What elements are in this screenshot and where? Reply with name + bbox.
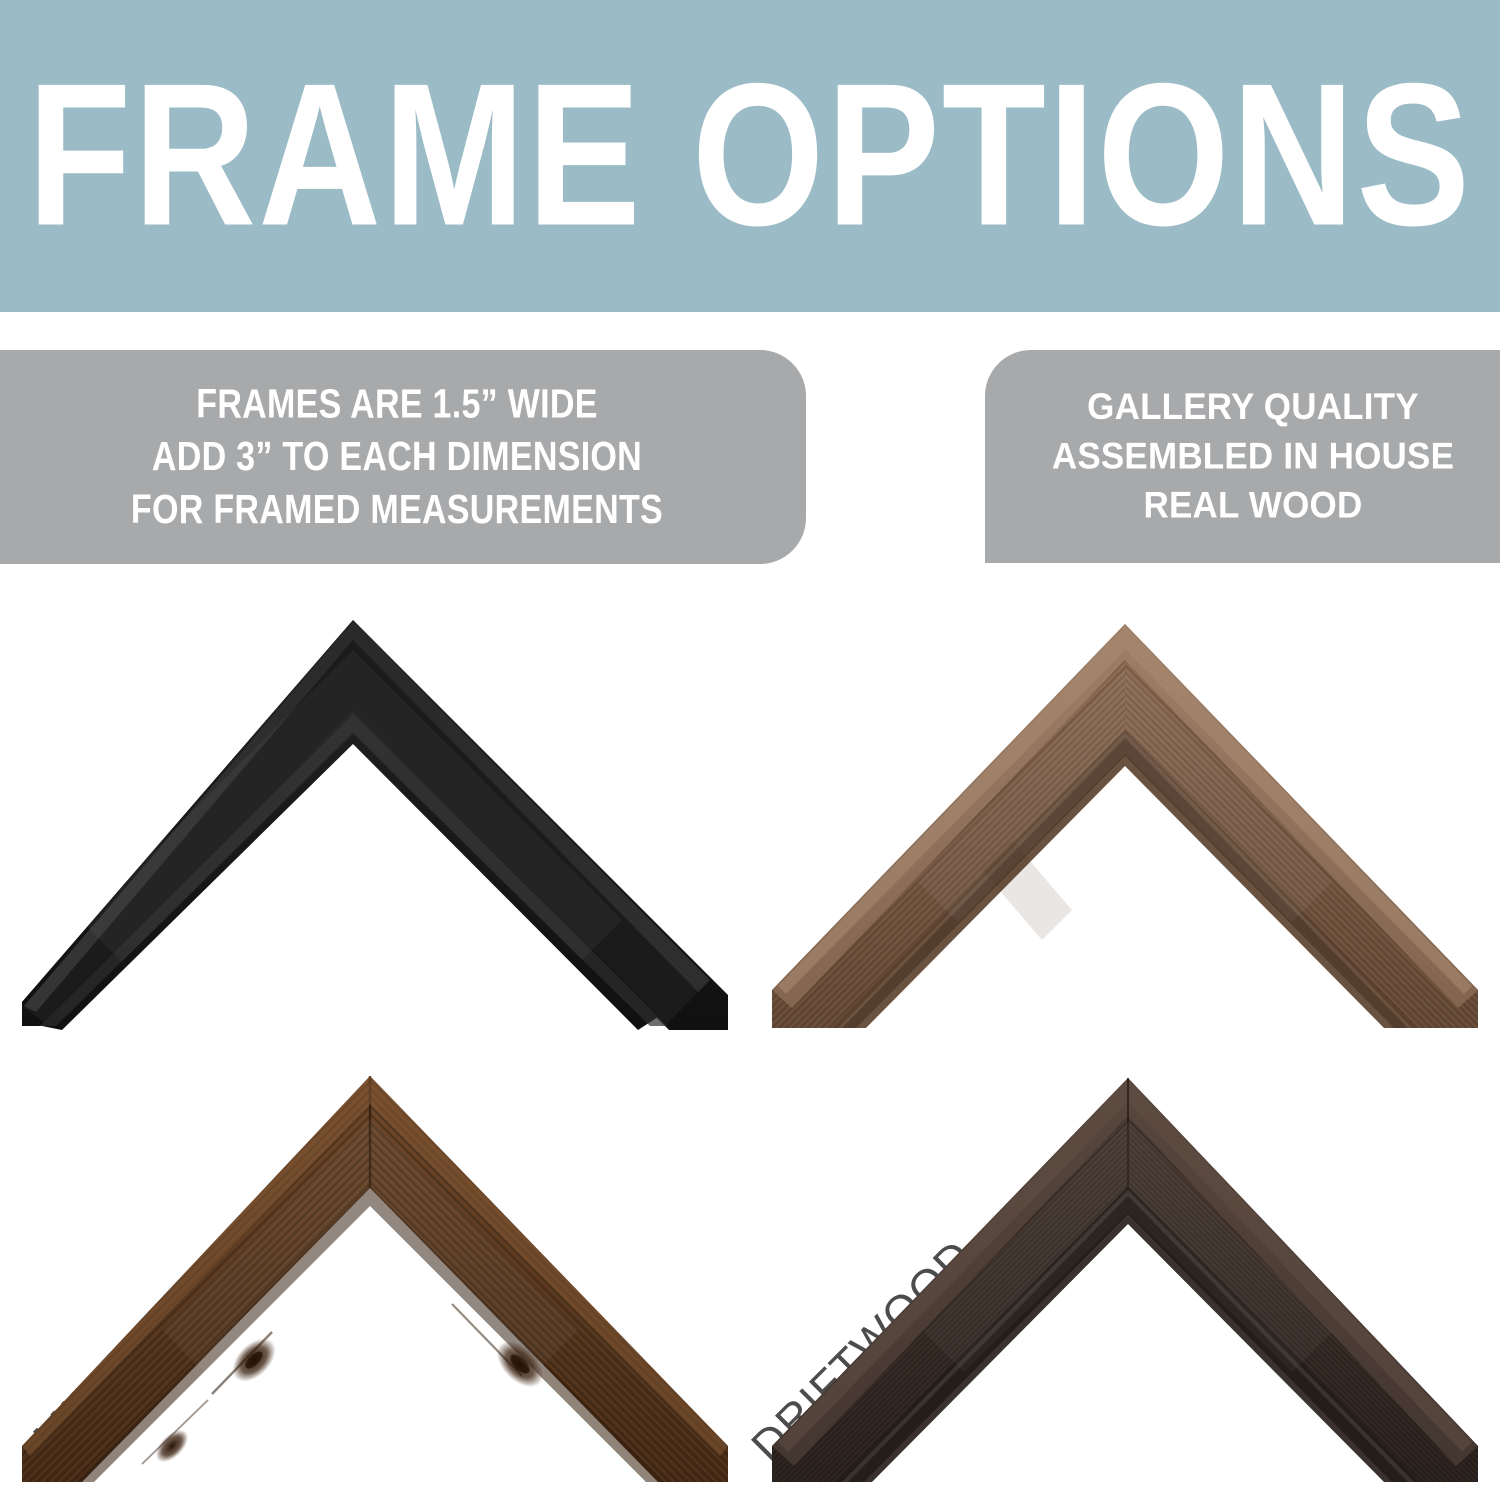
header-banner: FRAME OPTIONS: [0, 0, 1500, 312]
frame-sample-charcoal[interactable]: CHARCOAL: [750, 1046, 1500, 1500]
frame-sample-grid: MIDNIGHT: [0, 592, 1500, 1500]
info-panel-measurements: FRAMES ARE 1.5” WIDE ADD 3” TO EACH DIME…: [0, 350, 806, 564]
frame-sample-midnight[interactable]: MIDNIGHT: [0, 592, 750, 1046]
frame-sample-driftwood[interactable]: DRIFTWOOD: [750, 592, 1500, 1046]
frame-corner-driftwood-icon: [772, 610, 1478, 1030]
info-panel-quality: GALLERY QUALITY ASSEMBLED IN HOUSE REAL …: [985, 350, 1500, 563]
measurements-text: FRAMES ARE 1.5” WIDE ADD 3” TO EACH DIME…: [103, 378, 663, 537]
frame-corner-charcoal-icon: [772, 1064, 1478, 1484]
measurements-line-3: FOR FRAMED MEASUREMENTS: [131, 483, 663, 536]
quality-line-2: ASSEMBLED IN HOUSE: [1052, 432, 1454, 481]
quality-line-1: GALLERY QUALITY: [1052, 382, 1454, 431]
quality-line-3: REAL WOOD: [1052, 481, 1454, 530]
page-title: FRAME OPTIONS: [28, 60, 1473, 253]
frame-sample-farmhouse[interactable]: FARMHOUSE: [0, 1046, 750, 1500]
quality-text: GALLERY QUALITY ASSEMBLED IN HOUSE REAL …: [1052, 382, 1478, 530]
frame-corner-farmhouse-icon: [22, 1064, 728, 1484]
frame-corner-midnight-icon: [22, 610, 728, 1030]
measurements-line-1: FRAMES ARE 1.5” WIDE: [131, 378, 663, 431]
measurements-line-2: ADD 3” TO EACH DIMENSION: [131, 431, 663, 484]
frame-options-infographic: FRAME OPTIONS FRAMES ARE 1.5” WIDE ADD 3…: [0, 0, 1500, 1500]
